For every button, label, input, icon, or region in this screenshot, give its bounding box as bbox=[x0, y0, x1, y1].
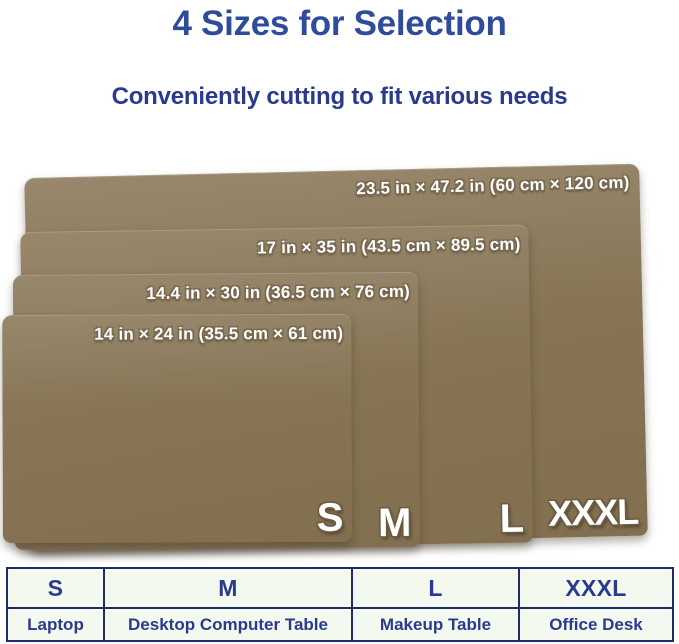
mat-s-size-letter: S bbox=[317, 496, 343, 540]
mat-l-dimensions: 17 in × 35 in (43.5 cm × 89.5 cm) bbox=[257, 235, 521, 259]
table-cell-use-s: Laptop bbox=[7, 608, 104, 641]
page-subtitle: Conveniently cutting to fit various need… bbox=[0, 82, 679, 112]
table-cell-use-xxxl: Office Desk bbox=[519, 608, 673, 641]
table-cell-use-l: Makeup Table bbox=[352, 608, 519, 641]
mat-s-dimensions: 14 in × 24 in (35.5 cm × 61 cm) bbox=[94, 324, 343, 345]
mat-m-size-letter: M bbox=[378, 501, 411, 545]
mat-xxxl-dimensions: 23.5 in × 47.2 in (60 cm × 120 cm) bbox=[356, 173, 630, 199]
table-row-size-codes: S M L XXXL bbox=[7, 568, 673, 608]
page-title: 4 Sizes for Selection bbox=[0, 2, 679, 46]
mat-m-dimensions: 14.4 in × 30 in (36.5 cm × 76 cm) bbox=[146, 282, 410, 304]
table-cell-code-m: M bbox=[104, 568, 352, 608]
table-cell-code-xxxl: XXXL bbox=[519, 568, 673, 608]
mat-l-size-letter: L bbox=[499, 497, 524, 541]
table-cell-use-m: Desktop Computer Table bbox=[104, 608, 352, 641]
mat-size-stack: 23.5 in × 47.2 in (60 cm × 120 cm) XXXL … bbox=[0, 160, 679, 560]
table-row-size-uses: Laptop Desktop Computer Table Makeup Tab… bbox=[7, 608, 673, 641]
size-usage-table: S M L XXXL Laptop Desktop Computer Table… bbox=[6, 567, 674, 642]
mat-s: 14 in × 24 in (35.5 cm × 61 cm) S bbox=[2, 314, 352, 543]
mat-xxxl-size-letter: XXXL bbox=[548, 490, 639, 536]
table-cell-code-s: S bbox=[7, 568, 104, 608]
infographic-root: 4 Sizes for Selection Conveniently cutti… bbox=[0, 0, 679, 644]
table-cell-code-l: L bbox=[352, 568, 519, 608]
